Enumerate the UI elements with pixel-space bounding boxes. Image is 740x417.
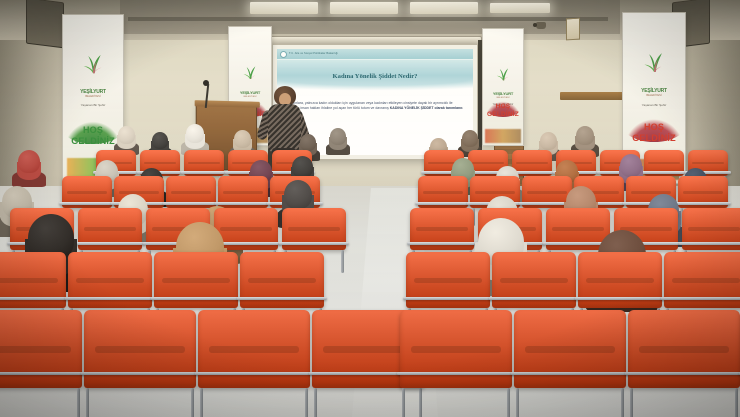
chair-leg (419, 388, 422, 417)
chair-leg (305, 388, 308, 417)
ceiling-light-panel (250, 2, 318, 14)
slide-emphasis-text: KADINA YÖNELİK ŞİDDET olarak tanımlanır. (390, 106, 464, 110)
framed-picture (566, 18, 580, 41)
municipality-logo (76, 52, 110, 87)
chair-armrest (195, 372, 313, 375)
chair-leg (735, 388, 738, 417)
chair-armrest (181, 171, 227, 174)
audience-member (118, 126, 135, 144)
auditorium-chair (0, 310, 82, 388)
audience-member (18, 150, 40, 173)
audience-member-head (284, 180, 312, 209)
audience-member-head (186, 124, 204, 143)
presenter-body (268, 104, 301, 152)
chair-armrest (511, 372, 629, 375)
slide-brand-text: T.C. Aile ve Sosyal Politikalar Bakanlığ… (289, 52, 338, 55)
leaf-logo-icon (81, 53, 105, 73)
banner-welcome-text: HOŞ GELDİNİZ (63, 125, 123, 147)
municipality-logo (238, 64, 262, 89)
audience-member (284, 180, 312, 209)
banner-welcome-text: HOŞ GELDİNİZ (483, 103, 523, 119)
audience-member-head (292, 156, 313, 178)
audience-member-head (300, 134, 316, 151)
chair-armrest (489, 297, 579, 300)
audience-member (300, 134, 316, 151)
chair-armrest (237, 297, 327, 300)
chair-armrest (675, 202, 731, 205)
audience-member (462, 130, 478, 147)
municipality-logo (637, 50, 672, 86)
chair-leg (507, 388, 510, 417)
audience-member-head (576, 126, 594, 145)
chair-leg (191, 388, 194, 417)
audience-member (186, 124, 204, 143)
chair-armrest (151, 297, 241, 300)
chair-armrest (415, 202, 471, 205)
chair-armrest (575, 297, 665, 300)
chair-armrest (641, 171, 687, 174)
audience-member (152, 132, 168, 149)
chair-armrest (81, 372, 199, 375)
chair-leg (630, 388, 633, 417)
audience-member-head (234, 130, 251, 148)
chair-leg (314, 388, 317, 417)
auditorium-chair (84, 310, 196, 388)
auditorium-chair (628, 310, 740, 388)
banner-footer-graphic (485, 129, 520, 143)
chair-armrest (0, 372, 85, 375)
chair-leg (77, 388, 80, 417)
chair-armrest (0, 297, 69, 300)
leaf-logo-icon (242, 65, 258, 79)
audience-member (330, 128, 346, 145)
microphone-icon (203, 80, 209, 86)
slide-bullet-text: Kadınlara, yalnızca kadın oldukları için… (288, 101, 464, 112)
banner-org-sub: BELEDİYESİ (646, 94, 661, 97)
chair-armrest (403, 297, 493, 300)
ceiling-rail (128, 17, 608, 21)
leaf-logo-icon (642, 51, 666, 72)
chair-leg (402, 388, 405, 417)
municipality-logo (492, 66, 514, 90)
audience-member-head (620, 154, 642, 177)
leaf-logo-icon (495, 67, 511, 81)
chair-leg (200, 388, 203, 417)
security-camera-icon (536, 22, 546, 29)
rollup-banner-mid-right: YEŞİLYURT BELEDİYESİ Yaşanan Bir Şehir H… (482, 28, 524, 146)
wall-speaker-left (26, 0, 64, 48)
chair-armrest (65, 297, 155, 300)
slide-title-band: Kadına Yönelik Şiddet Nedir? (277, 60, 473, 94)
chair-armrest (279, 242, 349, 245)
seminar-room-photograph: T.C. Aile ve Sosyal Politikalar Bakanlığ… (0, 0, 740, 417)
chair-armrest (59, 202, 115, 205)
chair-leg (341, 250, 344, 273)
chair-leg (621, 388, 624, 417)
audience-member-head (330, 128, 346, 145)
ceiling-light-panel (410, 2, 478, 14)
chair-armrest (75, 242, 145, 245)
auditorium-chair (198, 310, 310, 388)
chair-armrest (625, 372, 740, 375)
chair-armrest (661, 297, 740, 300)
chair-leg (516, 388, 519, 417)
chair-armrest (679, 242, 740, 245)
ceiling-light-panel (490, 3, 550, 13)
audience-member-head (152, 132, 168, 149)
ceiling-light-panel (330, 2, 398, 14)
audience-member-head (118, 126, 135, 144)
chair-armrest (397, 372, 515, 375)
audience-member (576, 126, 594, 145)
chair-armrest (215, 202, 271, 205)
chair-leg (86, 388, 89, 417)
chair-armrest (163, 202, 219, 205)
ministry-logo-icon (280, 51, 287, 58)
audience-member (540, 132, 557, 150)
slide-brand-bar: T.C. Aile ve Sosyal Politikalar Bakanlığ… (277, 49, 473, 60)
auditorium-chair (400, 310, 512, 388)
banner-welcome-text: HOŞ GELDİNİZ (623, 122, 685, 144)
audience-member (234, 130, 251, 148)
audience-member-head (462, 130, 478, 147)
chair-armrest (407, 242, 477, 245)
auditorium-chair (514, 310, 626, 388)
audience-member-head (18, 150, 40, 173)
audience-member-head (540, 132, 557, 150)
audience-member (292, 156, 313, 178)
banner-org-sub: BELEDİYESİ (85, 95, 100, 98)
slide-title: Kadına Yönelik Şiddet Nedir? (333, 73, 418, 81)
audience-member (620, 154, 642, 177)
